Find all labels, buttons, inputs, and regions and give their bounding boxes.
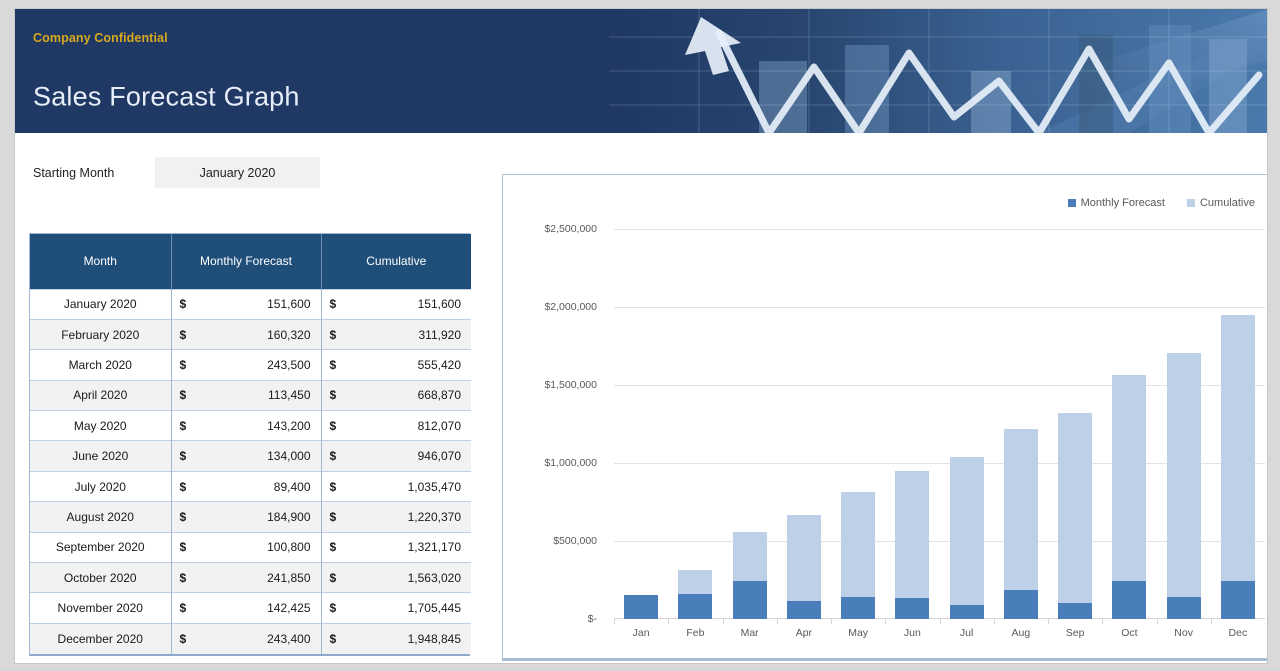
currency-symbol: $ — [330, 297, 337, 311]
y-axis-tick-label: $- — [477, 613, 597, 625]
cell-cumulative-value: 1,563,020 — [408, 571, 461, 585]
cell-month: October 2020 — [30, 563, 171, 593]
table-row[interactable]: October 2020$241,850$1,563,020 — [30, 563, 471, 593]
currency-symbol: $ — [330, 540, 337, 554]
x-axis-tick-label: Apr — [777, 627, 831, 639]
cell-cumulative: $668,870 — [321, 380, 471, 410]
cell-forecast: $100,800 — [171, 532, 321, 562]
chart-bar[interactable] — [950, 457, 984, 619]
cell-forecast-value: 100,800 — [267, 540, 310, 554]
cell-cumulative-value: 946,070 — [418, 449, 461, 463]
cell-month: January 2020 — [30, 289, 171, 319]
legend-swatch-cumulative — [1187, 199, 1195, 207]
chart-bar-slot — [994, 229, 1048, 619]
legend-item-monthly-forecast[interactable]: Monthly Forecast — [1068, 197, 1165, 209]
x-axis-tick-mark — [614, 619, 615, 624]
cell-cumulative: $555,420 — [321, 350, 471, 380]
bar-segment-cumulative — [841, 492, 875, 596]
chart-bar-slot — [1211, 229, 1265, 619]
cell-month: April 2020 — [30, 380, 171, 410]
starting-month-input[interactable]: January 2020 — [155, 157, 320, 188]
cell-forecast: $151,600 — [171, 289, 321, 319]
chart-bar[interactable] — [678, 570, 712, 619]
bar-segment-cumulative — [1221, 315, 1255, 581]
table-row[interactable]: August 2020$184,900$1,220,370 — [30, 502, 471, 532]
cell-cumulative: $1,035,470 — [321, 471, 471, 501]
x-axis-tick-mark — [994, 619, 995, 624]
cell-cumulative-value: 151,600 — [418, 297, 461, 311]
cell-cumulative-value: 1,220,370 — [408, 510, 461, 524]
header-banner: Company Confidential Sales Forecast Grap… — [15, 9, 1268, 133]
cell-forecast-value: 151,600 — [267, 297, 310, 311]
table-row[interactable]: May 2020$143,200$812,070 — [30, 411, 471, 441]
currency-symbol: $ — [330, 510, 337, 524]
cell-month: September 2020 — [30, 532, 171, 562]
cell-month: November 2020 — [30, 593, 171, 623]
bar-segment-monthly-forecast — [1058, 603, 1092, 619]
cell-cumulative-value: 1,035,470 — [408, 480, 461, 494]
chart-bar-slot — [1157, 229, 1211, 619]
bar-segment-cumulative — [950, 457, 984, 605]
document-page: Company Confidential Sales Forecast Grap… — [14, 8, 1268, 664]
x-axis-tick-mark — [723, 619, 724, 624]
currency-symbol: $ — [180, 328, 187, 342]
chart-bar-slot — [940, 229, 994, 619]
table-row[interactable]: July 2020$89,400$1,035,470 — [30, 471, 471, 501]
chart-bar[interactable] — [1112, 375, 1146, 619]
cell-forecast: $113,450 — [171, 380, 321, 410]
currency-symbol: $ — [180, 388, 187, 402]
bar-segment-monthly-forecast — [624, 595, 658, 619]
chart-bar-slot — [614, 229, 668, 619]
cell-forecast: $143,200 — [171, 411, 321, 441]
chart-plot-area: $2,500,000$2,000,000$1,500,000$1,000,000… — [614, 229, 1265, 664]
y-axis-tick-label: $1,500,000 — [477, 379, 597, 391]
cell-cumulative-value: 668,870 — [418, 388, 461, 402]
legend-label-monthly-forecast: Monthly Forecast — [1081, 197, 1165, 209]
currency-symbol: $ — [180, 571, 187, 585]
forecast-table: Month Monthly Forecast Cumulative Januar… — [29, 233, 470, 656]
page-title: Sales Forecast Graph — [33, 82, 300, 113]
chart-bar-slot — [885, 229, 939, 619]
currency-symbol: $ — [180, 297, 187, 311]
chart-bars — [614, 229, 1265, 619]
currency-symbol: $ — [330, 358, 337, 372]
chart-bar-slot — [831, 229, 885, 619]
cell-cumulative-value: 1,321,170 — [408, 540, 461, 554]
column-header-cumulative[interactable]: Cumulative — [321, 234, 471, 289]
cell-forecast: $241,850 — [171, 563, 321, 593]
cell-forecast-value: 243,500 — [267, 358, 310, 372]
chart-plot-inner — [614, 229, 1265, 619]
table-header-row: Month Monthly Forecast Cumulative — [30, 234, 471, 289]
currency-symbol: $ — [330, 419, 337, 433]
table-row[interactable]: April 2020$113,450$668,870 — [30, 380, 471, 410]
x-axis-tick-mark — [1157, 619, 1158, 624]
cell-cumulative-value: 311,920 — [419, 328, 462, 342]
chart-panel: Monthly Forecast Cumulative $2,500,000$2… — [502, 174, 1268, 661]
chart-bar-slot — [723, 229, 777, 619]
chart-bar[interactable] — [1221, 315, 1255, 619]
chart-bar[interactable] — [624, 595, 658, 619]
x-axis-tick-label: Oct — [1102, 627, 1156, 639]
currency-symbol: $ — [330, 388, 337, 402]
cell-forecast: $160,320 — [171, 319, 321, 349]
currency-symbol: $ — [180, 632, 187, 646]
chart-bar[interactable] — [841, 492, 875, 619]
banner-artwork — [609, 9, 1268, 133]
x-axis-tick-mark — [940, 619, 941, 624]
confidential-label: Company Confidential — [33, 31, 168, 45]
y-axis-tick-label: $2,000,000 — [477, 301, 597, 313]
x-axis-tick-label: Mar — [723, 627, 777, 639]
bar-segment-monthly-forecast — [1221, 581, 1255, 619]
cell-forecast: $243,500 — [171, 350, 321, 380]
chart-x-axis: JanFebMarAprMayJunJulAugSepOctNovDec — [614, 627, 1265, 639]
bar-segment-cumulative — [1058, 413, 1092, 603]
cell-forecast: $89,400 — [171, 471, 321, 501]
x-axis-tick-mark — [668, 619, 669, 624]
cell-forecast-value: 89,400 — [274, 480, 311, 494]
y-axis-tick-label: $2,500,000 — [477, 223, 597, 235]
bar-segment-cumulative — [1167, 353, 1201, 597]
cell-cumulative: $1,321,170 — [321, 532, 471, 562]
currency-symbol: $ — [330, 449, 337, 463]
column-header-forecast[interactable]: Monthly Forecast — [171, 234, 321, 289]
legend-swatch-monthly-forecast — [1068, 199, 1076, 207]
chart-bar-slot — [777, 229, 831, 619]
x-axis-tick-mark — [1211, 619, 1212, 624]
bar-segment-monthly-forecast — [895, 598, 929, 619]
x-axis-tick-label: Feb — [668, 627, 722, 639]
currency-symbol: $ — [180, 540, 187, 554]
bar-segment-monthly-forecast — [787, 601, 821, 619]
chart-bar-slot — [668, 229, 722, 619]
x-axis-tick-label: Nov — [1157, 627, 1211, 639]
cell-cumulative: $151,600 — [321, 289, 471, 319]
column-header-month[interactable]: Month — [30, 234, 171, 289]
bar-segment-cumulative — [1112, 375, 1146, 581]
starting-month-control: Starting Month January 2020 — [15, 133, 475, 233]
chart-bar[interactable] — [787, 515, 821, 619]
chart-bar[interactable] — [895, 471, 929, 619]
currency-symbol: $ — [180, 449, 187, 463]
currency-symbol: $ — [330, 571, 337, 585]
chart-bar-slot — [1102, 229, 1156, 619]
chart-bar-slot — [1048, 229, 1102, 619]
cell-cumulative: $1,220,370 — [321, 502, 471, 532]
cell-month: December 2020 — [30, 623, 171, 653]
bar-segment-cumulative — [678, 570, 712, 594]
currency-symbol: $ — [330, 480, 337, 494]
cell-cumulative: $1,563,020 — [321, 563, 471, 593]
bar-segment-cumulative — [787, 515, 821, 602]
cell-forecast-value: 143,200 — [267, 419, 310, 433]
chart-bar[interactable] — [1004, 429, 1038, 619]
bar-segment-monthly-forecast — [1167, 597, 1201, 619]
cell-forecast-value: 142,425 — [267, 601, 310, 615]
bar-segment-monthly-forecast — [950, 605, 984, 619]
x-axis-tick-label: Jul — [940, 627, 994, 639]
cell-cumulative: $812,070 — [321, 411, 471, 441]
x-axis-tick-mark — [777, 619, 778, 624]
cell-forecast: $134,000 — [171, 441, 321, 471]
bar-segment-monthly-forecast — [1112, 581, 1146, 619]
cell-cumulative-value: 1,948,845 — [408, 632, 461, 646]
bar-segment-monthly-forecast — [678, 594, 712, 619]
table-row[interactable]: June 2020$134,000$946,070 — [30, 441, 471, 471]
currency-symbol: $ — [180, 601, 187, 615]
legend-label-cumulative: Cumulative — [1200, 197, 1255, 209]
x-axis-tick-label: Aug — [994, 627, 1048, 639]
currency-symbol: $ — [330, 328, 337, 342]
cell-cumulative: $311,920 — [321, 319, 471, 349]
x-axis-tick-mark — [1102, 619, 1103, 624]
cell-month: June 2020 — [30, 441, 171, 471]
chart-bar[interactable] — [733, 532, 767, 619]
bar-segment-monthly-forecast — [733, 581, 767, 619]
table-body: January 2020$151,600$151,600February 202… — [30, 289, 471, 654]
table-row[interactable]: March 2020$243,500$555,420 — [30, 350, 471, 380]
y-axis-tick-label: $500,000 — [477, 535, 597, 547]
table-row[interactable]: January 2020$151,600$151,600 — [30, 289, 471, 319]
cell-cumulative: $1,705,445 — [321, 593, 471, 623]
bar-segment-monthly-forecast — [841, 597, 875, 619]
cell-cumulative-value: 812,070 — [418, 419, 461, 433]
x-axis-tick-mark — [831, 619, 832, 624]
legend-item-cumulative[interactable]: Cumulative — [1187, 197, 1255, 209]
x-axis-tick-label: Jan — [614, 627, 668, 639]
cell-month: March 2020 — [30, 350, 171, 380]
cell-forecast: $184,900 — [171, 502, 321, 532]
bar-segment-cumulative — [733, 532, 767, 581]
table-row[interactable]: December 2020$243,400$1,948,845 — [30, 623, 471, 653]
y-axis-tick-label: $1,000,000 — [477, 457, 597, 469]
currency-symbol: $ — [180, 510, 187, 524]
cell-cumulative-value: 1,705,445 — [408, 601, 461, 615]
cell-month: August 2020 — [30, 502, 171, 532]
table-row[interactable]: November 2020$142,425$1,705,445 — [30, 593, 471, 623]
bar-segment-cumulative — [895, 471, 929, 598]
cell-forecast: $243,400 — [171, 623, 321, 653]
banner-graphic-icon — [609, 9, 1268, 133]
x-axis-tick-mark — [1048, 619, 1049, 624]
currency-symbol: $ — [180, 419, 187, 433]
starting-month-label: Starting Month — [33, 166, 114, 180]
chart-bar[interactable] — [1058, 413, 1092, 619]
currency-symbol: $ — [330, 601, 337, 615]
table-row[interactable]: September 2020$100,800$1,321,170 — [30, 532, 471, 562]
currency-symbol: $ — [330, 632, 337, 646]
cell-cumulative: $946,070 — [321, 441, 471, 471]
chart-legend: Monthly Forecast Cumulative — [1068, 197, 1255, 209]
currency-symbol: $ — [180, 358, 187, 372]
bar-segment-cumulative — [1004, 429, 1038, 591]
cell-forecast-value: 184,900 — [267, 510, 310, 524]
cell-month: May 2020 — [30, 411, 171, 441]
x-axis-tick-label: Sep — [1048, 627, 1102, 639]
x-axis-tick-label: May — [831, 627, 885, 639]
cell-forecast-value: 134,000 — [267, 449, 310, 463]
cell-forecast: $142,425 — [171, 593, 321, 623]
cell-forecast-value: 243,400 — [267, 632, 310, 646]
cell-forecast-value: 241,850 — [267, 571, 310, 585]
cell-cumulative: $1,948,845 — [321, 623, 471, 653]
cell-month: February 2020 — [30, 319, 171, 349]
chart-bar[interactable] — [1167, 353, 1201, 619]
x-axis-tick-label: Dec — [1211, 627, 1265, 639]
table-row[interactable]: February 2020$160,320$311,920 — [30, 319, 471, 349]
cell-month: July 2020 — [30, 471, 171, 501]
x-axis-tick-mark — [885, 619, 886, 624]
currency-symbol: $ — [180, 480, 187, 494]
x-axis-tick-label: Jun — [885, 627, 939, 639]
cell-forecast-value: 160,320 — [267, 328, 310, 342]
cell-forecast-value: 113,450 — [268, 388, 311, 402]
cell-cumulative-value: 555,420 — [418, 358, 461, 372]
bar-segment-monthly-forecast — [1004, 590, 1038, 619]
